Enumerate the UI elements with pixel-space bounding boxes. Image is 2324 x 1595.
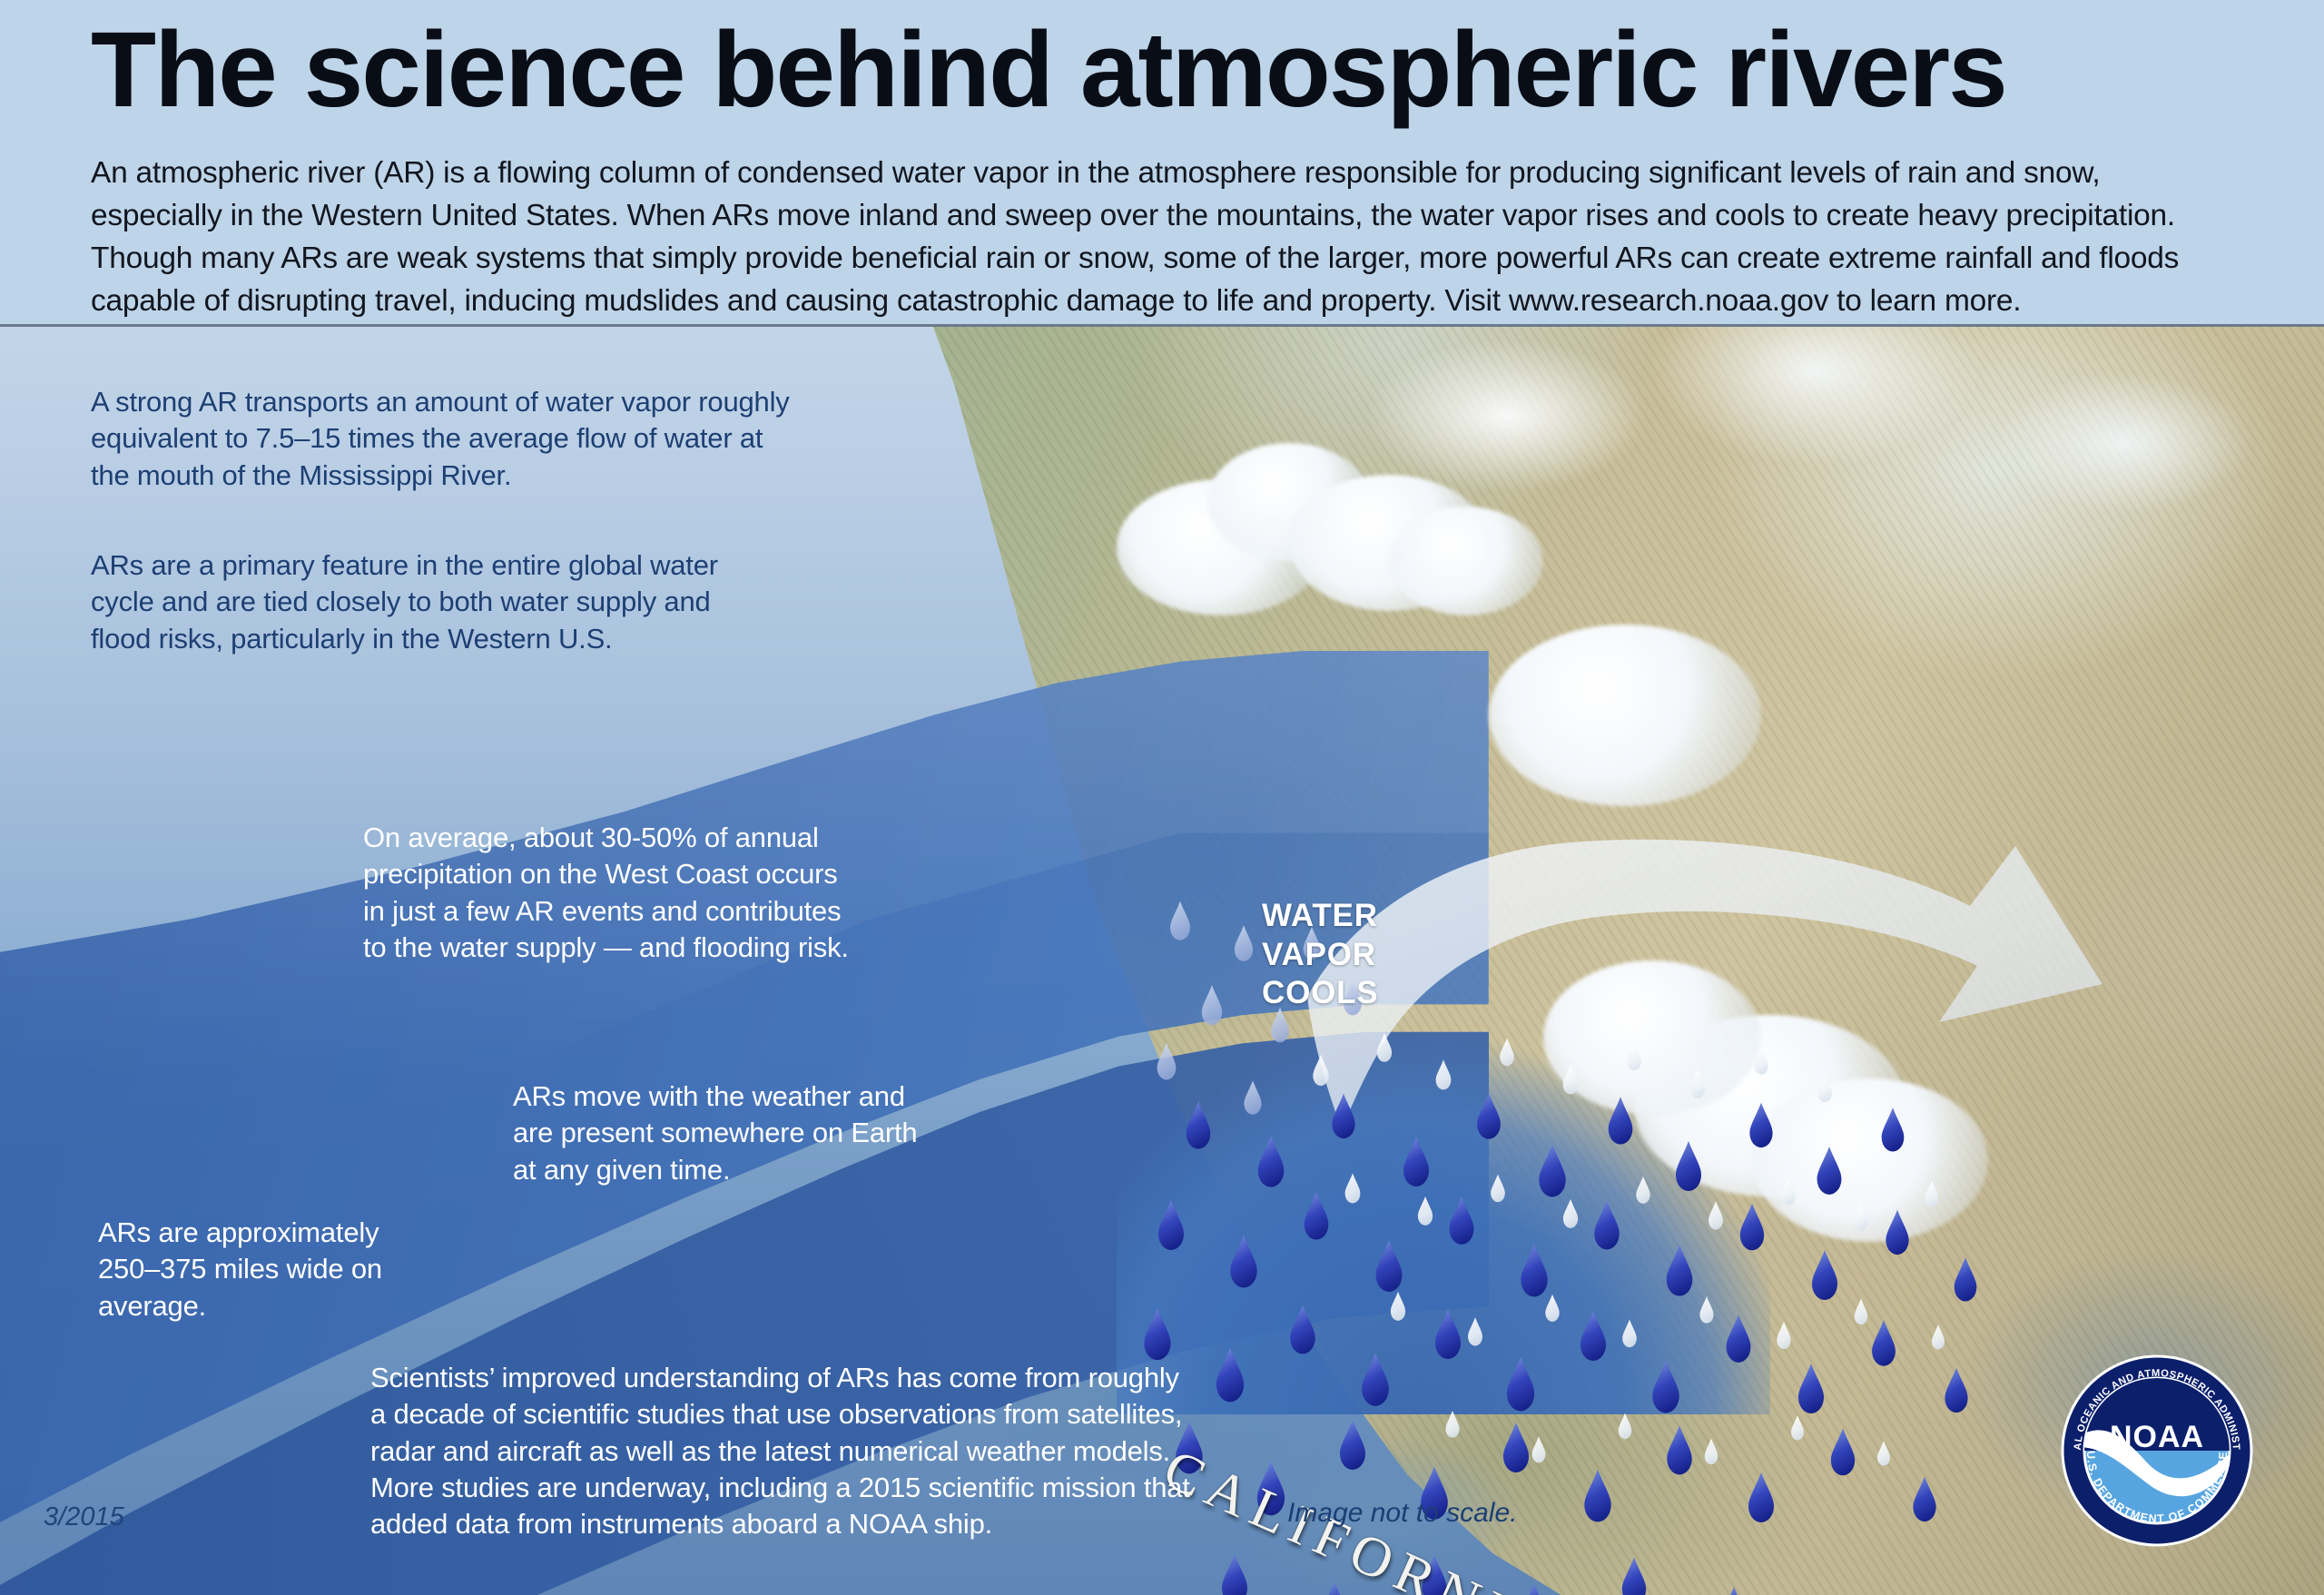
cloud-puff [1389,507,1543,615]
cloud-puff [1489,625,1761,806]
date-stamp: 3/2015 [44,1502,124,1532]
callout-water-cycle: ARs are a primary feature in the entire … [91,547,726,657]
callout-weather: ARs move with the weather and are presen… [513,1078,921,1188]
infographic-poster: The science behind atmospheric rivers An… [0,0,2324,1595]
callout-studies: Scientists’ improved understanding of AR… [370,1360,1192,1542]
vapor-label-line: VAPOR [1262,936,1378,975]
image-scale-note: Image not to scale. [1287,1498,1517,1529]
diagram-scene: WATER VAPOR COOLS CALIFORNIA A strong AR… [0,325,2324,1595]
noaa-acronym: NOAA [2110,1420,2204,1454]
vapor-label-line: WATER [1262,897,1378,936]
callout-precipitation: On average, about 30-50% of annual preci… [363,820,858,966]
header-banner: The science behind atmospheric rivers An… [0,0,2324,327]
water-vapor-cools-label: WATER VAPOR COOLS [1262,897,1378,1013]
vapor-label-line: COOLS [1262,974,1378,1013]
page-title: The science behind atmospheric rivers [91,15,2288,127]
noaa-logo-icon: NOAA NATIONAL OCEANIC AND ATMOSPHERIC AD… [2059,1353,2255,1549]
header-description: An atmospheric river (AR) is a flowing c… [91,153,2188,323]
callout-width: ARs are approximately 250–375 miles wide… [98,1215,398,1324]
callout-mississippi: A strong AR transports an amount of wate… [91,384,808,494]
snow-capped-mountains [1344,325,2324,688]
